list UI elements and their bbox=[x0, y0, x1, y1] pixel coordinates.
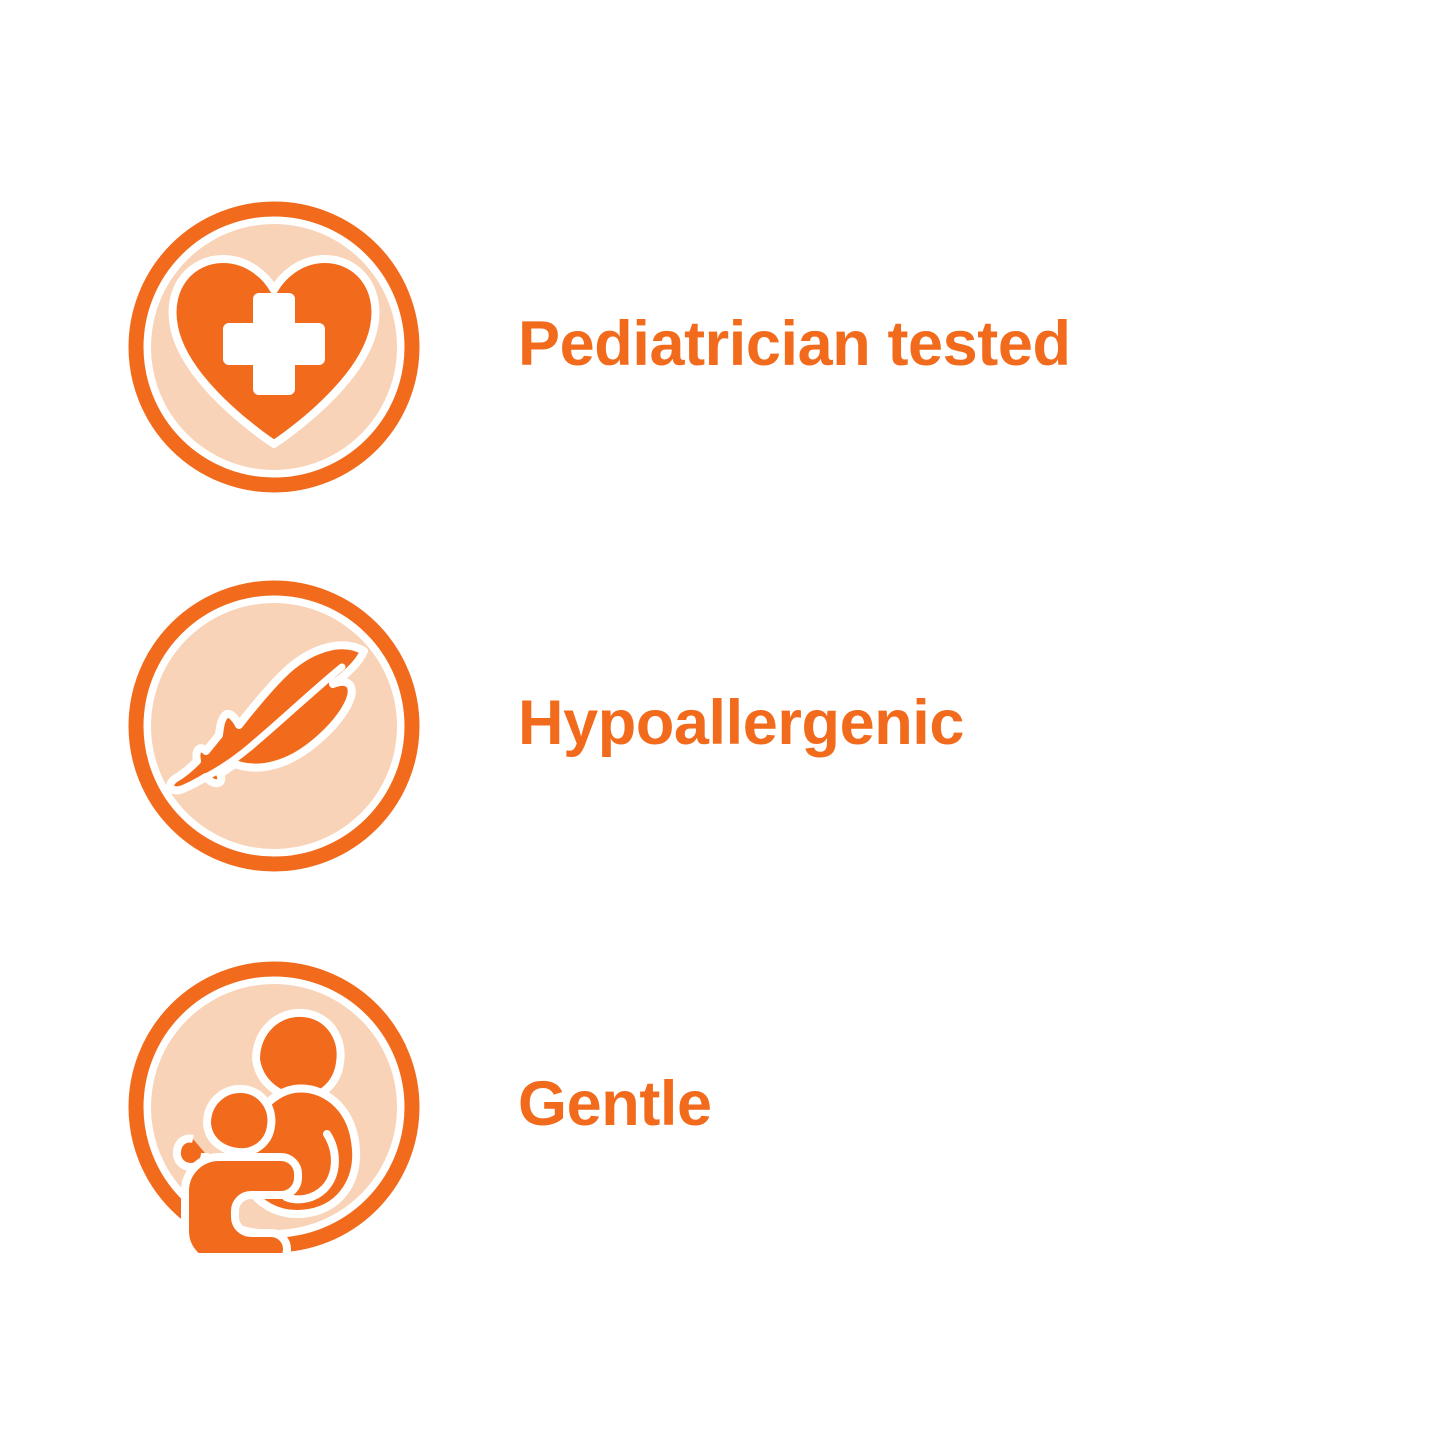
feature-row: Gentle bbox=[0, 961, 1445, 1253]
feature-row: Hypoallergenic bbox=[0, 580, 1445, 872]
heart-with-cross-icon bbox=[128, 201, 420, 493]
feature-row: Pediatrician tested bbox=[0, 201, 1445, 493]
benefits-panel: Pediatrician tested Hypoallergenic bbox=[0, 0, 1445, 1444]
feather-icon bbox=[128, 580, 420, 872]
feature-label-pediatrician-tested: Pediatrician tested bbox=[518, 313, 1071, 376]
badge-pediatrician-tested bbox=[128, 201, 420, 493]
feature-label-hypoallergenic: Hypoallergenic bbox=[518, 692, 964, 755]
baby-head bbox=[207, 1089, 271, 1152]
badge-gentle bbox=[128, 961, 420, 1253]
feature-label-gentle: Gentle bbox=[518, 1073, 712, 1136]
mother-holding-baby-icon bbox=[128, 961, 420, 1253]
badge-hypoallergenic bbox=[128, 580, 420, 872]
